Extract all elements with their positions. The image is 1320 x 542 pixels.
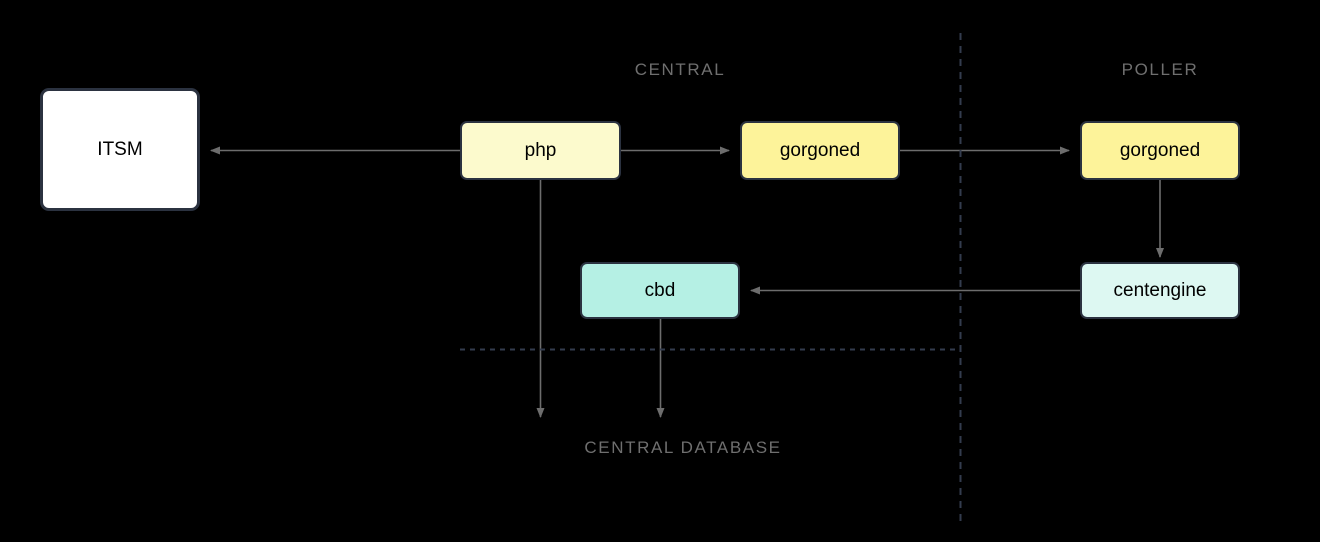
label-central-database: CENTRAL DATABASE	[584, 438, 781, 458]
node-gorgoned-central[interactable]: gorgoned	[740, 121, 900, 180]
node-gorgoned-poller[interactable]: gorgoned	[1080, 121, 1240, 180]
node-centengine[interactable]: centengine	[1080, 262, 1240, 319]
zone-label-central: CENTRAL	[635, 60, 726, 80]
zone-label-poller: POLLER	[1122, 60, 1199, 80]
node-itsm[interactable]: ITSM	[40, 88, 200, 211]
node-cbd[interactable]: cbd	[580, 262, 740, 319]
node-php[interactable]: php	[460, 121, 621, 180]
architecture-diagram: CENTRAL POLLER CENTRAL DATABASE ITSM php…	[0, 0, 1320, 542]
